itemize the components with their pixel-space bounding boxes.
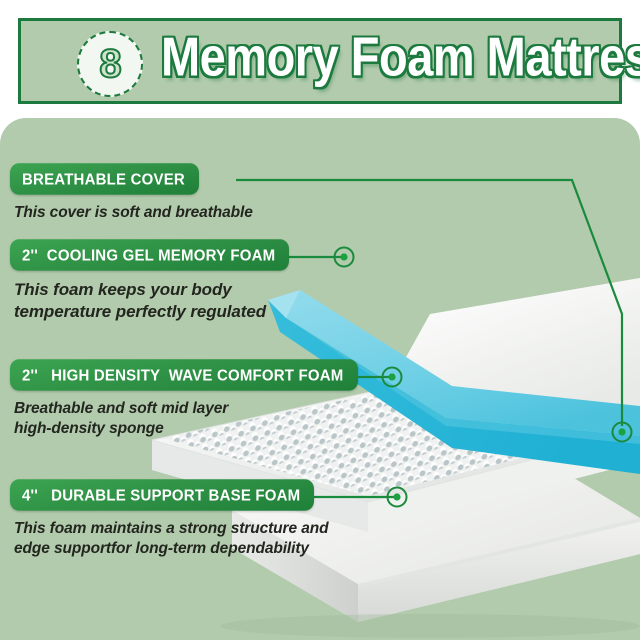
callout-cooling-gel-memory-foam[interactable]: 2'' COOLING GEL MEMORY FOAM This foam ke… xyxy=(10,240,289,324)
callout-label-wave-comfort-foam[interactable]: 2'' HIGH DENSITY WAVE COMFORT FOAM xyxy=(10,359,358,391)
step-number-text: 8 xyxy=(99,44,120,84)
page-title: Memory Foam Mattress xyxy=(161,25,640,89)
callout-description-durable-support-base-foam: This foam maintains a strong structure a… xyxy=(14,519,328,560)
step-number-badge: 8 xyxy=(77,31,143,97)
callout-description-breathable-cover: This cover is soft and breathable xyxy=(14,203,253,223)
callout-durable-support-base-foam[interactable]: 4'' DURABLE SUPPORT BASE FOAM This foam … xyxy=(10,480,328,560)
callout-description-cooling-gel-memory-foam: This foam keeps your body temperature pe… xyxy=(14,279,289,324)
header-banner: 8 Memory Foam Mattress xyxy=(18,18,622,104)
callout-wave-comfort-foam[interactable]: 2'' HIGH DENSITY WAVE COMFORT FOAM Breat… xyxy=(10,360,358,440)
infographic-page: 8 Memory Foam Mattress xyxy=(0,0,640,640)
callout-label-durable-support-base-foam[interactable]: 4'' DURABLE SUPPORT BASE FOAM xyxy=(10,479,314,511)
callout-breathable-cover[interactable]: BREATHABLE COVER This cover is soft and … xyxy=(10,164,253,223)
main-content-panel: BREATHABLE COVER This cover is soft and … xyxy=(0,118,640,640)
callout-label-cooling-gel-memory-foam[interactable]: 2'' COOLING GEL MEMORY FOAM xyxy=(10,239,289,271)
callout-label-breathable-cover[interactable]: BREATHABLE COVER xyxy=(10,163,199,195)
callout-description-wave-comfort-foam: Breathable and soft mid layer high-densi… xyxy=(14,399,358,440)
